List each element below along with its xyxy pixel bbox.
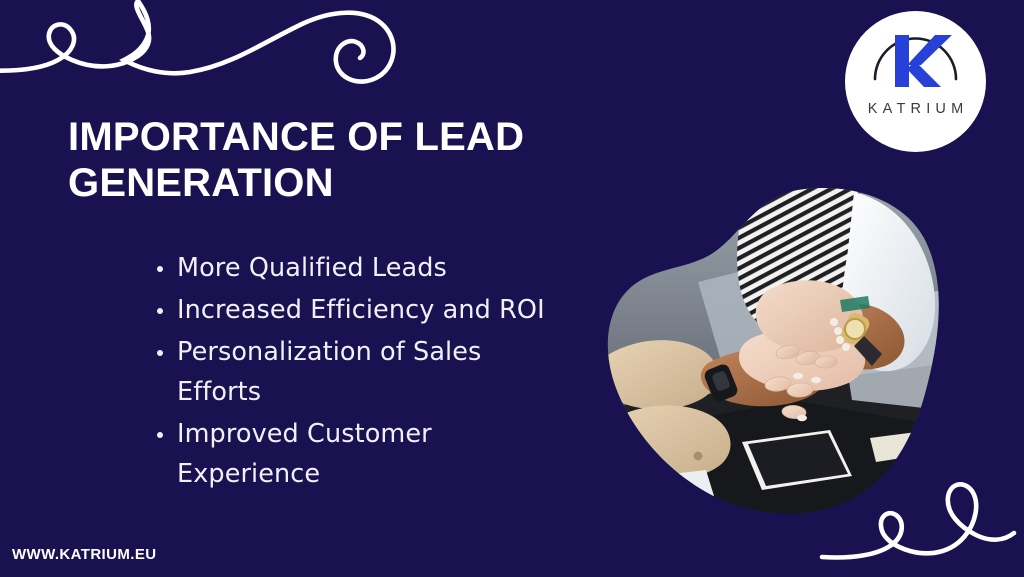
flourish-swirl-icon xyxy=(0,0,422,113)
website-url: WWW.KATRIUM.EU xyxy=(12,546,156,563)
list-item: Improved Customer Experience xyxy=(155,414,555,494)
katrium-logo: KATRIUM xyxy=(845,11,986,152)
benefits-list: More Qualified Leads Increased Efficienc… xyxy=(155,248,555,496)
list-item: More Qualified Leads xyxy=(155,248,555,288)
presentation-slide: Importance of Lead Generation More Quali… xyxy=(0,0,1024,577)
logo-k-icon xyxy=(845,17,986,109)
list-item: Increased Efficiency and ROI xyxy=(155,290,555,330)
page-title: Importance of Lead Generation xyxy=(68,114,608,207)
logo-wordmark: KATRIUM xyxy=(845,101,986,117)
team-hands-stacked-photo xyxy=(602,186,942,518)
list-item: Personalization of Sales Efforts xyxy=(155,332,555,412)
